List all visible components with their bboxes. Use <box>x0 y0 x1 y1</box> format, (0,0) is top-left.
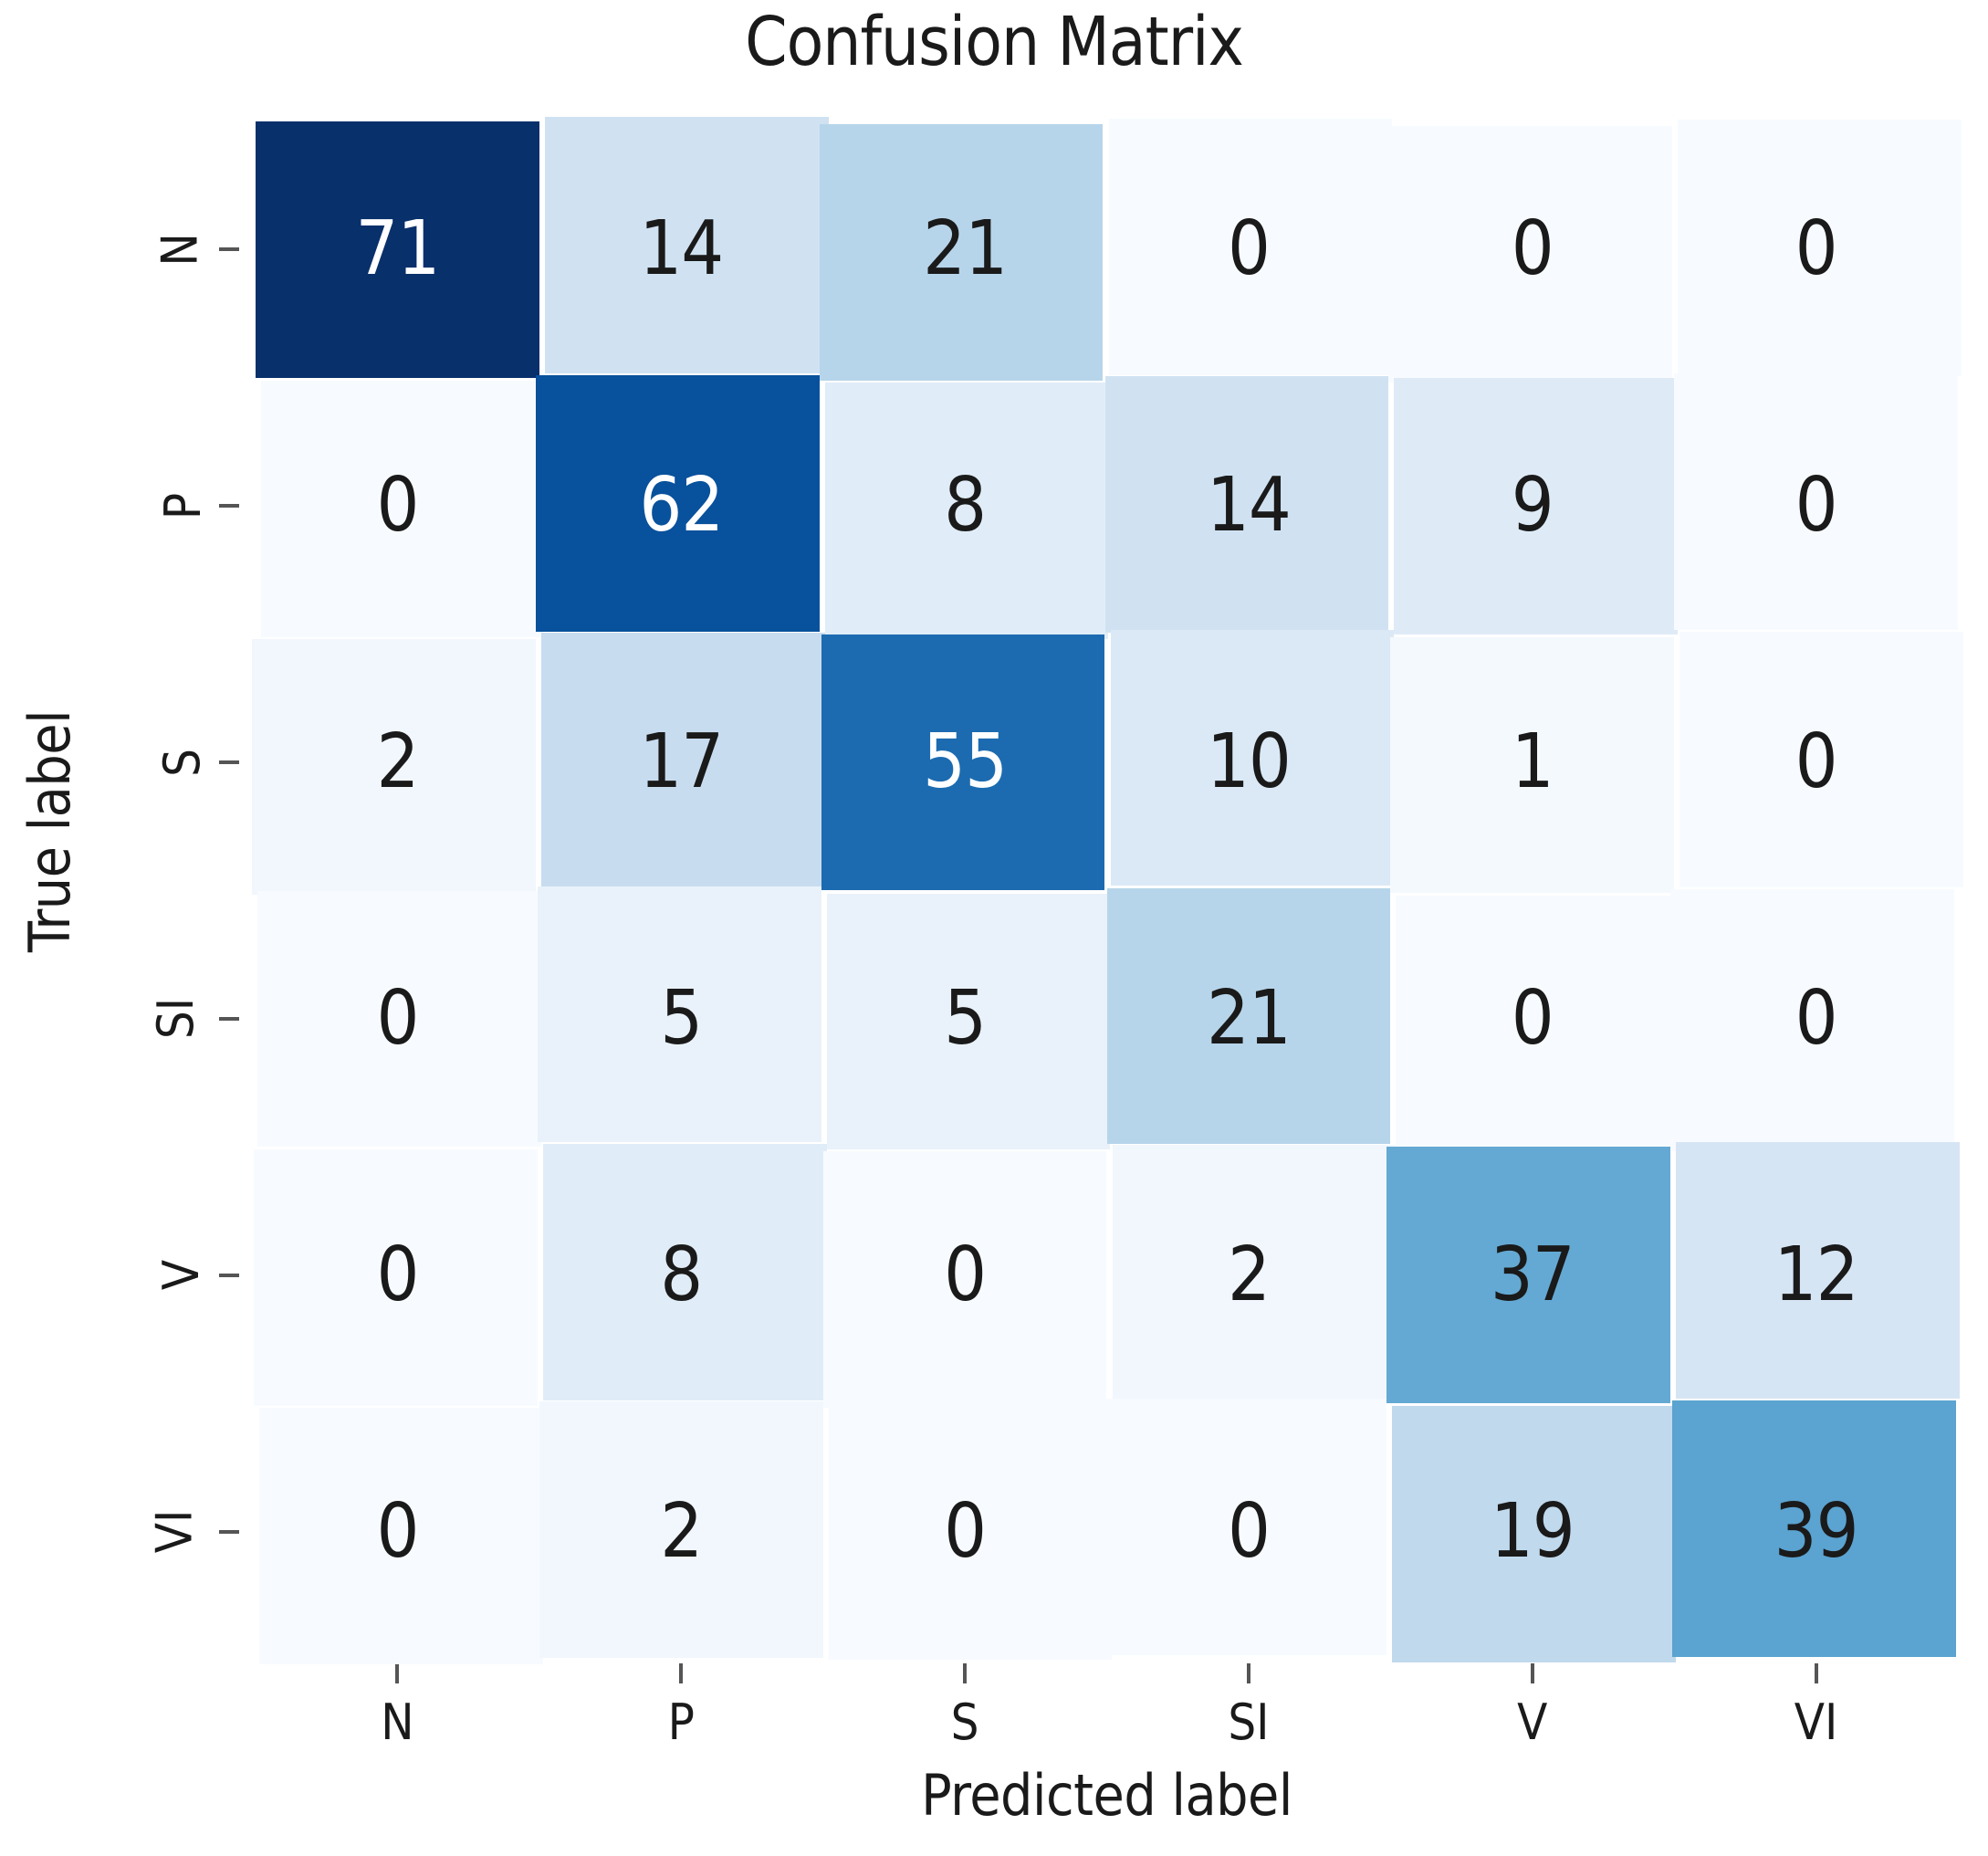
y-axis-title: True label <box>17 709 84 951</box>
y-axis-title-container: True label <box>9 0 91 1662</box>
heatmap-cell <box>820 124 1104 381</box>
y-tick-label-text: SI <box>147 998 204 1039</box>
heatmap-cell <box>1104 1399 1387 1655</box>
y-tick-mark <box>219 1530 239 1534</box>
heatmap-cell <box>1679 632 1963 888</box>
x-tick-mark <box>1531 1663 1534 1683</box>
heatmap-cell <box>1392 1406 1676 1662</box>
heatmap-cell <box>545 117 829 373</box>
confusion-matrix-figure: Confusion Matrix True label Predicted la… <box>0 0 1988 1856</box>
heatmap-cell <box>538 886 821 1143</box>
heatmap-cell <box>1105 376 1389 633</box>
y-tick-label-text: P <box>154 493 212 519</box>
heatmap-cell <box>259 1408 543 1664</box>
heatmap-grid: 7114210000628149021755101005521000802371… <box>256 121 1958 1660</box>
heatmap-cell <box>829 1403 1113 1660</box>
heatmap-cell <box>536 375 820 632</box>
y-tick-mark <box>219 504 239 508</box>
y-tick-label-n: N <box>96 222 196 277</box>
y-tick-label-vi: VI <box>96 1505 196 1559</box>
y-tick-mark <box>219 1274 239 1277</box>
x-tick-label-n: N <box>306 1693 488 1751</box>
x-tick-label-s: S <box>874 1693 1056 1751</box>
y-tick-label-text: V <box>152 1260 210 1290</box>
heatmap-cell <box>1394 378 1678 634</box>
heatmap-cell <box>1676 1142 1960 1399</box>
heatmap-cell <box>1109 119 1393 375</box>
heatmap-cell <box>543 1144 827 1400</box>
y-tick-label-s: S <box>96 735 196 790</box>
x-tick-label-p: P <box>590 1693 772 1751</box>
heatmap-cell <box>541 633 825 889</box>
y-tick-label-v: V <box>96 1248 196 1303</box>
heatmap-cell <box>1388 126 1672 383</box>
x-tick-label-si: SI <box>1157 1693 1340 1751</box>
x-tick-label-vi: VI <box>1725 1693 1908 1751</box>
heatmap-cell <box>256 121 539 378</box>
x-tick-mark <box>963 1663 967 1683</box>
heatmap-cell <box>257 891 541 1148</box>
heatmap-cell <box>1674 373 1958 630</box>
y-tick-mark <box>219 760 239 764</box>
heatmap-cell <box>1672 1400 1956 1657</box>
heatmap-cell <box>1670 889 1954 1146</box>
y-tick-mark <box>219 1017 239 1021</box>
heatmap-cell <box>821 634 1105 891</box>
y-tick-label-si: SI <box>96 991 196 1046</box>
y-tick-mark <box>219 247 239 251</box>
y-tick-label-text: VI <box>146 1510 204 1554</box>
heatmap-cell <box>1386 1147 1670 1403</box>
heatmap-cell <box>261 381 545 637</box>
heatmap-cell <box>1111 630 1395 886</box>
heatmap-cell <box>539 1401 823 1658</box>
chart-title: Confusion Matrix <box>0 7 1988 79</box>
y-tick-label-text: S <box>153 749 211 777</box>
heatmap-cell <box>252 639 536 896</box>
y-tick-label-text: N <box>151 233 208 266</box>
x-tick-label-v: V <box>1441 1693 1624 1751</box>
heatmap-cell <box>1396 896 1679 1152</box>
x-tick-mark <box>679 1663 683 1683</box>
heatmap-cell <box>1107 888 1391 1145</box>
y-tick-label-p: P <box>96 478 196 533</box>
x-tick-mark <box>395 1663 399 1683</box>
heatmap-cell <box>1390 637 1674 894</box>
heatmap-cell <box>254 1149 538 1406</box>
heatmap-cell <box>825 383 1109 639</box>
heatmap-cell <box>823 1151 1107 1408</box>
heatmap-cell <box>1678 120 1962 376</box>
heatmap-cell <box>827 894 1111 1150</box>
x-tick-mark <box>1815 1663 1818 1683</box>
heatmap-cell <box>1113 1145 1397 1401</box>
x-tick-mark <box>1247 1663 1250 1683</box>
x-axis-title: Predicted label <box>256 1762 1958 1829</box>
